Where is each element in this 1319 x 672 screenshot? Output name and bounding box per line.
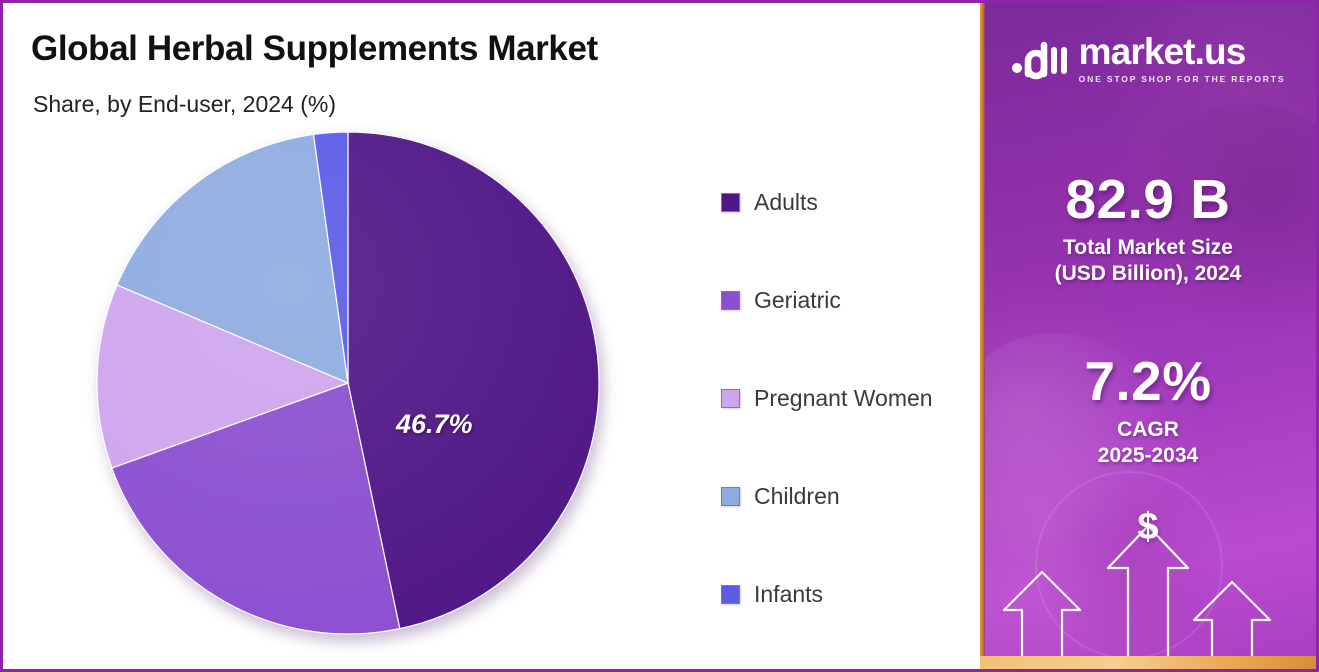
market-size-caption: Total Market Size (USD Billion), 2024 xyxy=(980,235,1316,287)
logo-text-block: market.us ONE STOP SHOP FOR THE REPORTS xyxy=(1079,33,1286,84)
market-size-stat: 82.9 B Total Market Size (USD Billion), … xyxy=(980,171,1316,287)
stats-panel: market.us ONE STOP SHOP FOR THE REPORTS … xyxy=(980,3,1316,669)
pie-chart: 46.7% xyxy=(96,131,600,635)
chart-panel: Global Herbal Supplements Market Share, … xyxy=(3,3,986,669)
pie-sheen-overlay xyxy=(97,132,599,634)
legend-swatch-icon xyxy=(721,585,740,604)
market-us-logo-icon xyxy=(1011,37,1069,81)
market-size-value: 82.9 B xyxy=(980,171,1316,229)
chart-legend: AdultsGeriatricPregnant WomenChildrenInf… xyxy=(721,153,986,643)
arrow-left xyxy=(1004,572,1080,662)
cagr-caption-line2: 2025-2034 xyxy=(980,443,1316,469)
infographic-root: Global Herbal Supplements Market Share, … xyxy=(0,0,1319,672)
pie-chart-svg xyxy=(96,131,600,635)
market-size-caption-line1: Total Market Size xyxy=(980,235,1316,261)
legend-item-geriatric[interactable]: Geriatric xyxy=(721,251,986,349)
arrow-right xyxy=(1194,582,1270,662)
legend-swatch-icon xyxy=(721,389,740,408)
legend-item-label: Children xyxy=(754,483,840,510)
cagr-value: 7.2% xyxy=(980,353,1316,411)
cagr-caption-line1: CAGR xyxy=(980,417,1316,443)
pie-slice-label-adults: 46.7% xyxy=(396,409,473,440)
market-size-caption-line2: (USD Billion), 2024 xyxy=(980,261,1316,287)
legend-swatch-icon xyxy=(721,193,740,212)
cagr-caption: CAGR 2025-2034 xyxy=(980,417,1316,469)
logo-wordmark: market.us xyxy=(1079,33,1286,70)
chart-subtitle: Share, by End-user, 2024 (%) xyxy=(33,91,336,118)
legend-item-label: Adults xyxy=(754,189,818,216)
legend-item-label: Geriatric xyxy=(754,287,841,314)
logo-tagline: ONE STOP SHOP FOR THE REPORTS xyxy=(1079,74,1286,84)
panel-bottom-band xyxy=(980,656,1316,669)
panel-divider xyxy=(980,3,985,669)
legend-item-infants[interactable]: Infants xyxy=(721,545,986,643)
cagr-stat: 7.2% CAGR 2025-2034 xyxy=(980,353,1316,469)
legend-item-pregnant-women[interactable]: Pregnant Women xyxy=(721,349,986,447)
legend-item-label: Infants xyxy=(754,581,823,608)
dollar-sign-icon: $ xyxy=(980,506,1316,549)
legend-item-adults[interactable]: Adults xyxy=(721,153,986,251)
legend-swatch-icon xyxy=(721,487,740,506)
page-title: Global Herbal Supplements Market xyxy=(31,29,598,69)
legend-item-label: Pregnant Women xyxy=(754,385,933,412)
legend-item-children[interactable]: Children xyxy=(721,447,986,545)
brand-logo: market.us ONE STOP SHOP FOR THE REPORTS xyxy=(980,33,1316,84)
legend-swatch-icon xyxy=(721,291,740,310)
